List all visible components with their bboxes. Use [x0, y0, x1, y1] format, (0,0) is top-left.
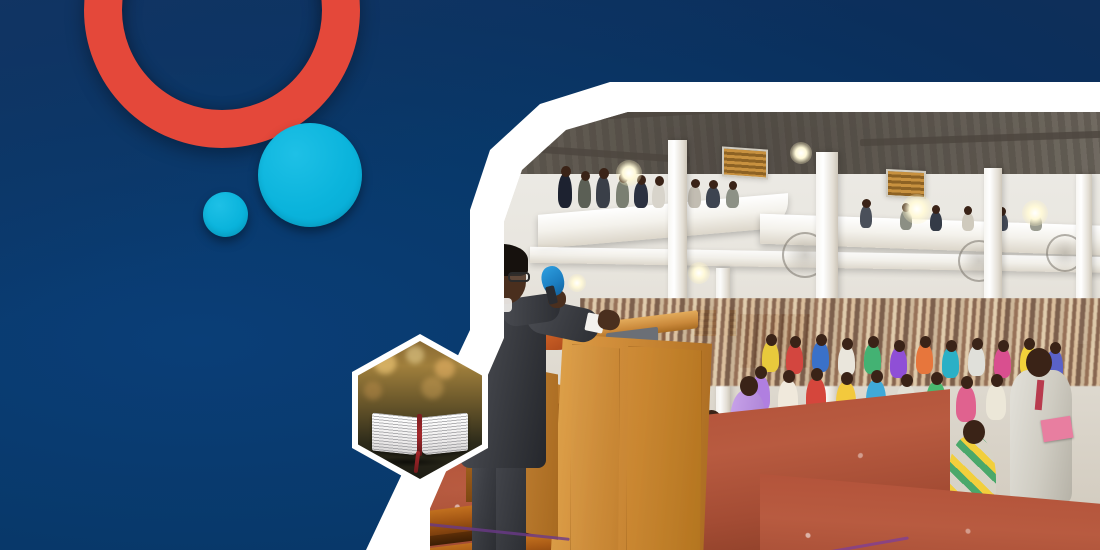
- congregant-head: [1050, 342, 1061, 354]
- congregant: [986, 384, 1006, 420]
- balcony-person-head: [561, 166, 571, 177]
- balcony-person-head: [581, 171, 590, 181]
- louvre-window: [722, 146, 768, 179]
- congregant-head: [811, 368, 823, 381]
- congregant: [956, 386, 976, 422]
- balcony-person: [726, 188, 739, 208]
- congregant-head: [998, 340, 1009, 352]
- cyan-circle-large: [258, 123, 362, 227]
- balcony-person-head: [691, 179, 700, 188]
- balcony-person: [706, 187, 720, 208]
- congregant-head: [740, 376, 758, 396]
- congregant-head: [790, 336, 801, 348]
- congregant-head: [783, 370, 795, 383]
- balcony-person-head: [729, 181, 737, 190]
- balcony-person: [962, 213, 974, 231]
- ceiling-lamp: [568, 274, 586, 292]
- pulpit-front-panel: [626, 346, 702, 550]
- bible-left-page: [372, 413, 419, 456]
- ceiling-lamp: [688, 262, 710, 284]
- bible-right-page: [421, 413, 468, 456]
- congregant-head: [972, 338, 983, 350]
- balcony-person-head: [655, 176, 664, 186]
- congregant-head: [991, 374, 1003, 387]
- congregant-head: [963, 420, 985, 444]
- congregant-head: [894, 340, 905, 352]
- usher-head: [1026, 348, 1052, 377]
- open-bible-icon: [372, 415, 468, 459]
- balcony-person: [688, 186, 701, 208]
- balcony-person-head: [862, 199, 871, 208]
- congregant-head: [946, 340, 957, 352]
- balcony-person: [652, 183, 665, 208]
- ceiling-lamp: [902, 194, 932, 224]
- balcony-person: [860, 206, 872, 228]
- congregant-head: [868, 336, 879, 348]
- balcony-person-head: [709, 180, 718, 189]
- congregant-head: [931, 372, 943, 385]
- balcony-person-head: [932, 205, 940, 214]
- ceiling-lamp: [616, 160, 642, 186]
- bible-spine: [417, 414, 422, 456]
- balcony-person: [930, 212, 942, 231]
- congregant-head: [901, 374, 913, 387]
- balcony-person: [596, 176, 610, 208]
- congregant: [916, 344, 933, 374]
- congregant: [968, 346, 985, 376]
- balcony-person-head: [964, 206, 972, 215]
- balcony-person: [578, 178, 591, 208]
- bible-hexagon-image: [358, 341, 482, 479]
- congregant-head: [841, 372, 853, 385]
- congregant-head: [871, 370, 883, 383]
- preacher-glasses: [508, 272, 530, 282]
- ceiling-lamp: [1022, 200, 1048, 226]
- congregant-head: [842, 338, 853, 350]
- hero-banner: Pastor preaching at a wooden pulpit befo…: [0, 0, 1100, 550]
- cyan-circle-small: [203, 192, 248, 237]
- pulpit-front-panel: [570, 344, 620, 550]
- usher-pink-paper: [1040, 416, 1073, 442]
- balcony-person: [558, 174, 572, 208]
- congregant-head: [755, 366, 767, 379]
- congregant-head: [961, 376, 973, 389]
- congregant-head: [920, 336, 931, 348]
- ceiling-lamp: [790, 142, 812, 164]
- congregant-head: [816, 334, 827, 346]
- balcony-person-head: [599, 168, 609, 179]
- congregant: [942, 348, 959, 378]
- balcony-person: [634, 182, 648, 208]
- congregant-head: [766, 334, 777, 346]
